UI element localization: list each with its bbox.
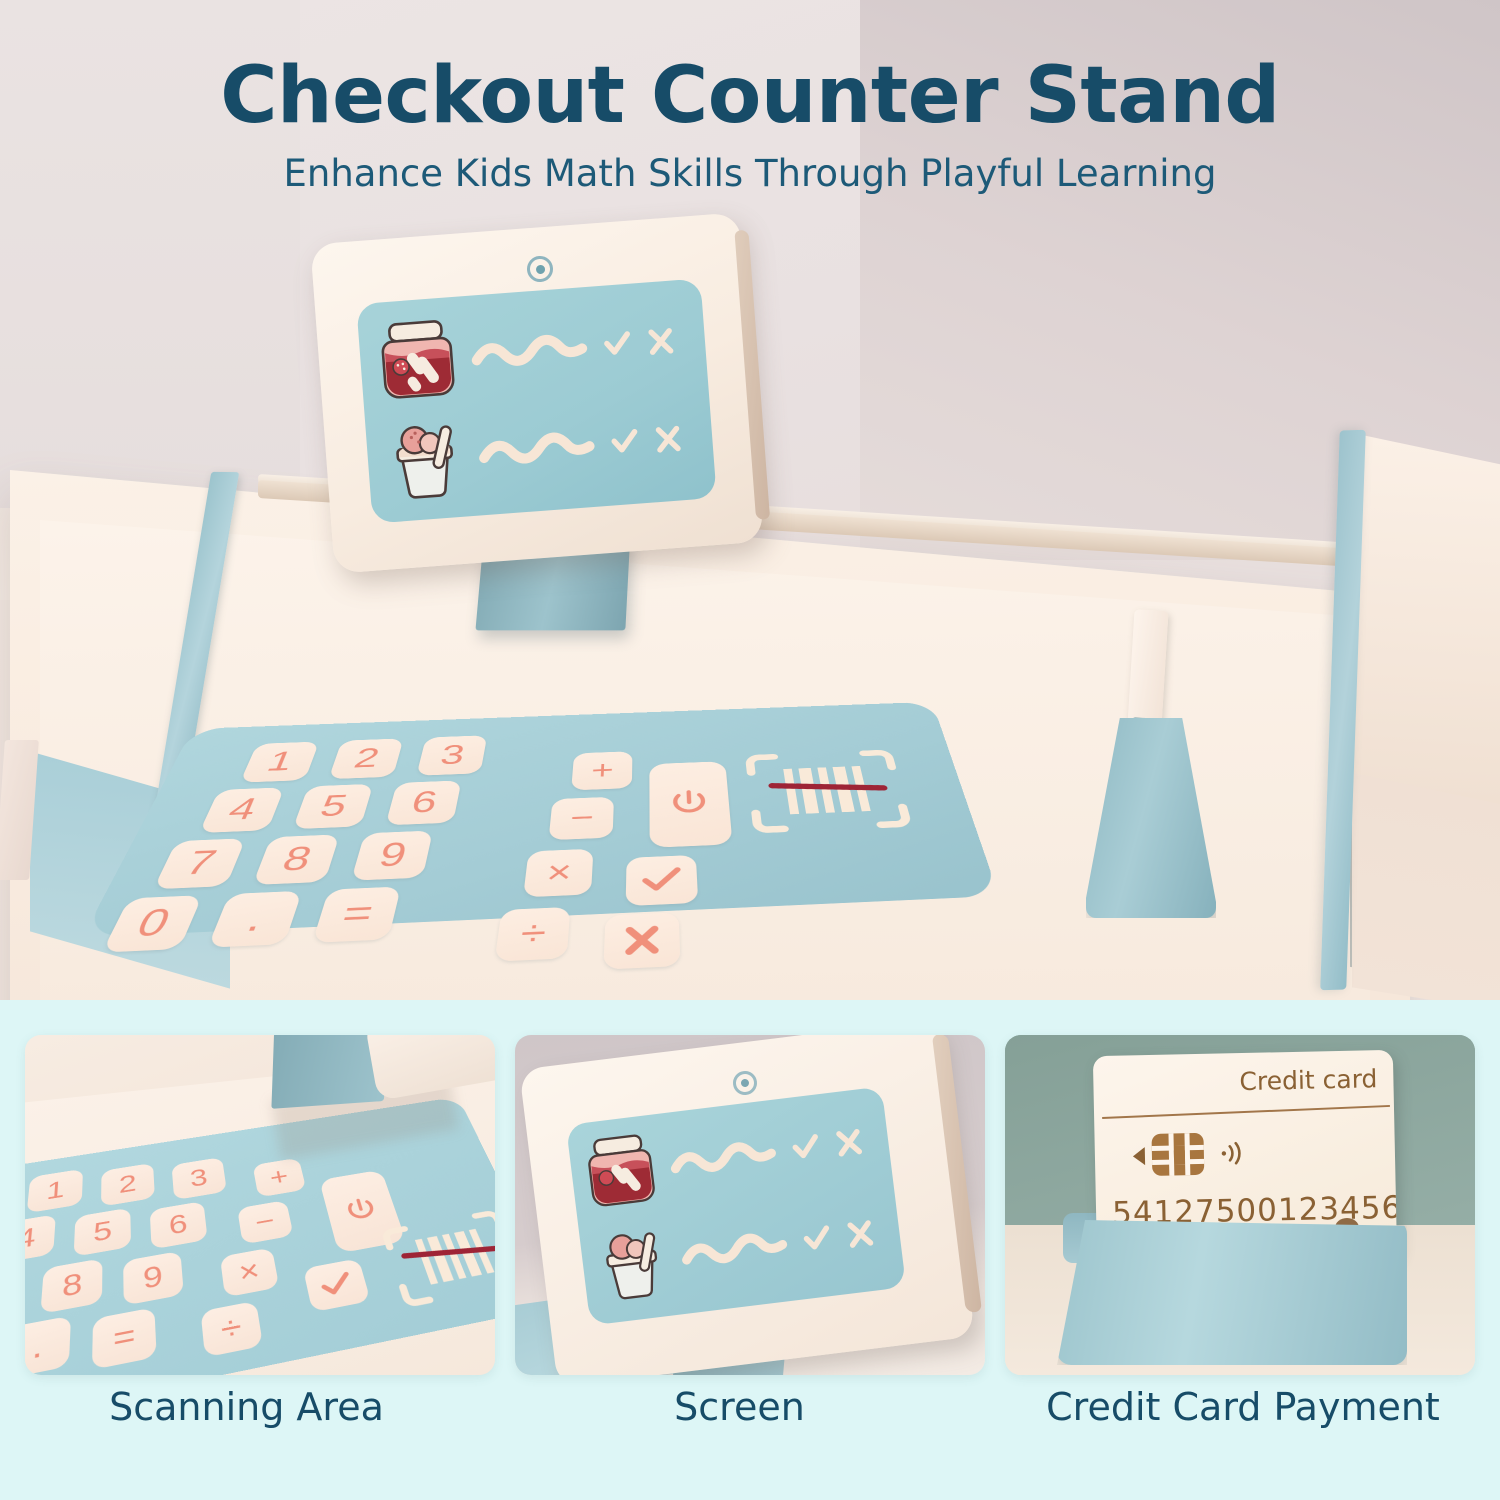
feature-card-credit-card-payment[interactable]: Credit card 5412 7 [1005, 1035, 1475, 1375]
price-squiggle-icon [679, 1227, 790, 1272]
check-mark-icon [601, 329, 633, 361]
jam-jar-icon [376, 315, 460, 405]
checkout-screen-assembly [322, 228, 782, 648]
screen-row-2 [383, 396, 686, 502]
key-3[interactable]: 3 [416, 735, 487, 775]
keypad-keys[interactable]: 1 2 3 4 5 6 7 8 9 0 . = + − × ÷ [82, 702, 999, 938]
caption-credit-card-payment: Credit Card Payment [986, 1385, 1500, 1429]
emv-chip-icon [1150, 1132, 1205, 1177]
feature-card-list: 1 2 3 4 5 6 7 8 9 0 . = + − × ÷ [25, 1035, 1475, 1375]
page-subtitle: Enhance Kids Math Skills Through Playful… [0, 152, 1500, 195]
x-mark-icon [832, 1126, 865, 1159]
page-title: Checkout Counter Stand [0, 56, 1500, 138]
title-block: Checkout Counter Stand Enhance Kids Math… [0, 56, 1500, 195]
price-squiggle-icon [469, 330, 589, 373]
cancel-button[interactable] [603, 912, 680, 969]
feature-caption-row: Scanning Area Screen Credit Card Payment [0, 1385, 1500, 1429]
power-icon [341, 1194, 382, 1226]
x-mark-icon [844, 1217, 877, 1250]
check-icon [640, 866, 684, 895]
key-1[interactable]: 1 [240, 742, 320, 783]
card-holder-assembly [1080, 610, 1240, 930]
power-button[interactable] [649, 761, 732, 848]
keypad-panel[interactable]: 1 2 3 4 5 6 7 8 9 0 . = + − × ÷ [82, 702, 999, 938]
key-6[interactable]: 6 [385, 780, 461, 825]
screen-display [566, 1086, 906, 1325]
credit-card-divider [1102, 1105, 1390, 1119]
key-2[interactable]: 2 [328, 738, 403, 779]
key-7[interactable]: 7 [153, 838, 246, 889]
x-mark-icon [652, 423, 684, 455]
power-icon [667, 787, 712, 819]
ice-cream-cup-icon [593, 1220, 672, 1304]
check-mark-icon [800, 1223, 833, 1256]
caption-scanning-area: Scanning Area [0, 1385, 493, 1429]
confirm-button[interactable] [626, 855, 699, 906]
price-squiggle-icon [668, 1136, 779, 1181]
x-mark-icon [645, 325, 677, 357]
key-multiply[interactable]: × [523, 849, 593, 898]
key-9[interactable]: 9 [351, 831, 433, 881]
screen-row-2 [593, 1195, 880, 1305]
feature-card-scanning-area[interactable]: 1 2 3 4 5 6 7 8 9 0 . = + − × ÷ [25, 1035, 495, 1375]
card-number-group-4: 5678 [1360, 1189, 1397, 1227]
feature-strip: 1 2 3 4 5 6 7 8 9 0 . = + − × ÷ [0, 1000, 1500, 1500]
shelf-top-plank [1348, 432, 1500, 808]
jam-jar-icon [581, 1129, 660, 1213]
screen-row-1 [581, 1103, 868, 1213]
key-4[interactable]: 4 [199, 787, 285, 833]
check-mark-icon [608, 426, 640, 458]
key-5[interactable]: 5 [293, 784, 374, 829]
screen-row-1 [376, 298, 679, 404]
key-divide[interactable]: ÷ [494, 907, 570, 962]
credit-card-label: Credit card [1239, 1064, 1377, 1096]
key-minus[interactable]: − [548, 797, 613, 840]
key-plus[interactable]: + [571, 751, 632, 790]
insert-arrow-icon [1133, 1147, 1145, 1165]
key-8[interactable]: 8 [252, 834, 339, 885]
price-squiggle-icon [477, 428, 597, 471]
barcode-scanner-icon[interactable] [743, 749, 914, 835]
caption-screen: Screen [493, 1385, 986, 1429]
card-holder-block [1057, 1220, 1407, 1365]
check-mark-icon [789, 1131, 822, 1164]
screen-display [356, 278, 717, 523]
x-icon [621, 923, 663, 957]
holder-block [1086, 718, 1216, 918]
ice-cream-cup-icon [383, 413, 467, 503]
contactless-icon [1217, 1137, 1250, 1170]
check-icon [317, 1270, 356, 1300]
feature-card-screen[interactable] [515, 1035, 985, 1375]
